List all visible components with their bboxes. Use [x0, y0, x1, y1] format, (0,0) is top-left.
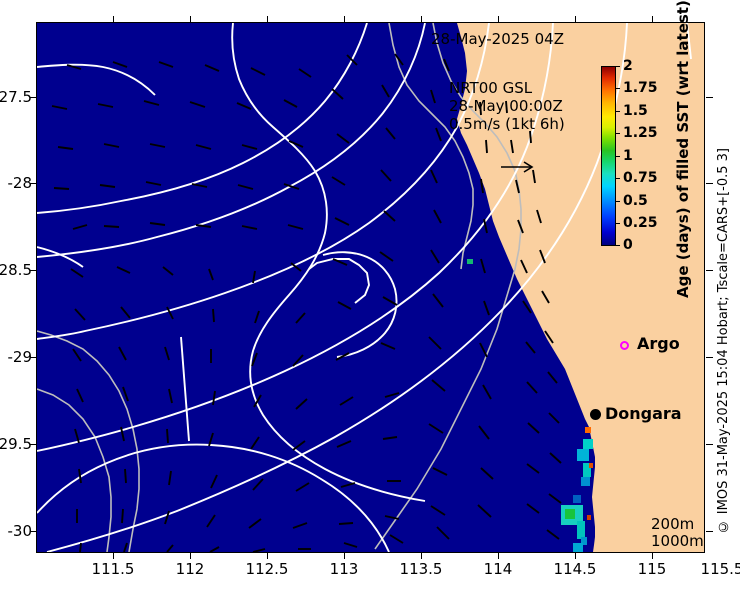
- ytick-label: -29.5: [0, 435, 32, 453]
- colorbar-gradient: [601, 66, 616, 246]
- depth-deep-label: 1000m: [651, 533, 705, 550]
- colorbar-tick-label: 2: [623, 58, 633, 74]
- depth-rule-line: [651, 553, 705, 554]
- ytick-label: -28: [8, 174, 33, 192]
- xtick-label: 111.5: [92, 560, 135, 578]
- dongara-marker-icon[interactable]: [590, 409, 601, 420]
- ytick-label: -27.5: [0, 88, 32, 106]
- ytick-label: -29: [8, 348, 33, 366]
- gsl-time-label: 28-May 00:00Z: [449, 97, 563, 115]
- colorbar-tick-label: 0: [623, 237, 633, 253]
- xtick-label: 115.5: [701, 560, 740, 578]
- right-arrow-icon: [499, 160, 539, 174]
- timestamp-label: 28-May-2025 04Z: [431, 30, 564, 48]
- xtick-label: 114.5: [554, 560, 597, 578]
- dongara-label: Dongara: [605, 404, 682, 423]
- ytick-label: -30: [8, 522, 33, 540]
- xtick-label: 115: [638, 560, 667, 578]
- xtick-label: 112: [176, 560, 205, 578]
- colorbar-tick-label: 0.25: [623, 215, 658, 231]
- colorbar-tick-label: 0.5: [623, 193, 648, 209]
- colorbar-tick-label: 1: [623, 148, 633, 164]
- credit-label: © IMOS 31-May-2025 15:04 Hobart; Tscale=…: [716, 148, 731, 533]
- colorbar-tick-label: 1.5: [623, 103, 648, 119]
- depth-scale-key: 200m 1000m: [651, 516, 705, 553]
- colorbar-title: Age (days) of filled SST (wrt latest): [674, 58, 692, 298]
- xtick-label: 113: [330, 560, 359, 578]
- colorbar-tick-label: 1.75: [623, 80, 658, 96]
- xtick-label: 113.5: [400, 560, 443, 578]
- argo-marker-icon[interactable]: [620, 341, 629, 350]
- argo-label: Argo: [637, 334, 680, 353]
- gsl-source-label: NRT00 GSL: [449, 79, 532, 97]
- colorbar-tick-label: 1.25: [623, 125, 658, 141]
- xtick-label: 114: [484, 560, 513, 578]
- ytick-label: -28.5: [0, 261, 32, 279]
- colorbar-tick-label: 0.75: [623, 170, 658, 186]
- gsl-speed-label: 0.5m/s (1kt 6h): [449, 115, 565, 133]
- xtick-label: 112.5: [246, 560, 289, 578]
- figure-root: 28-May-2025 04Z NRT00 GSL 28-May 00:00Z …: [0, 0, 740, 592]
- depth-shallow-label: 200m: [651, 516, 705, 533]
